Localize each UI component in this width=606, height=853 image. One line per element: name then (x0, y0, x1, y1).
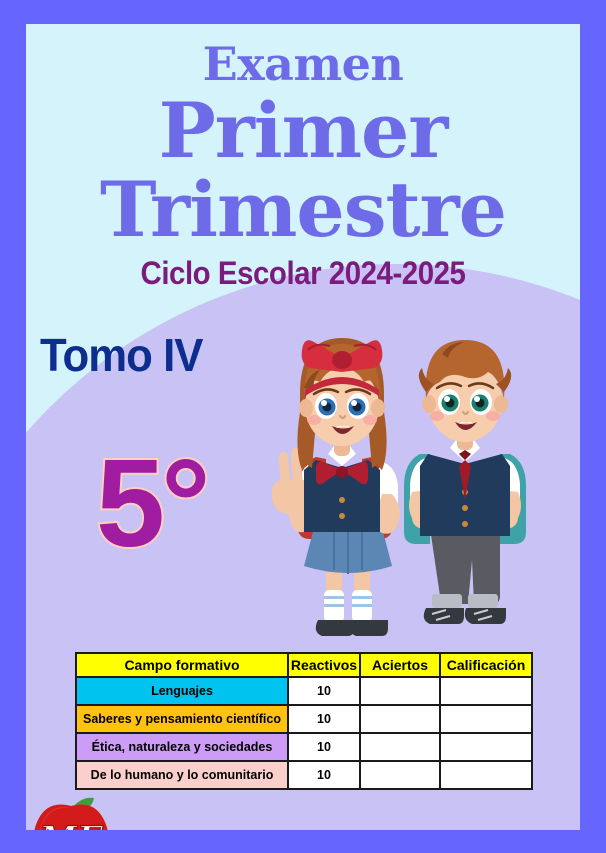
page-title-primer: Primer (26, 92, 580, 170)
table-row: De lo humano y lo comunitario 10 (76, 761, 532, 789)
cell-reactivos: 10 (288, 733, 360, 761)
cell-calificacion[interactable] (440, 677, 532, 705)
cell-campo-etica: Ética, naturaleza y sociedades (76, 733, 288, 761)
cell-calificacion[interactable] (440, 705, 532, 733)
grade-badge: 5° (96, 442, 207, 566)
table-header-row: Campo formativo Reactivos Aciertos Calif… (76, 653, 532, 677)
page-title-trimestre: Trimestre (26, 170, 580, 250)
cell-calificacion[interactable] (440, 761, 532, 789)
cell-reactivos: 10 (288, 677, 360, 705)
exam-cover-page: Examen Primer Trimestre Ciclo Escolar 20… (0, 0, 606, 853)
students-illustration (254, 302, 580, 662)
cell-calificacion[interactable] (440, 733, 532, 761)
cell-aciertos[interactable] (360, 677, 440, 705)
page-title-examen: Examen (26, 38, 580, 90)
cell-aciertos[interactable] (360, 761, 440, 789)
girl-student-figure (272, 338, 400, 636)
score-table: Campo formativo Reactivos Aciertos Calif… (75, 652, 533, 790)
table-row: Lenguajes 10 (76, 677, 532, 705)
cell-reactivos: 10 (288, 761, 360, 789)
column-header-aciertos: Aciertos (360, 653, 440, 677)
column-header-campo-formativo: Campo formativo (76, 653, 288, 677)
cell-campo-saberes: Saberes y pensamiento científico (76, 705, 288, 733)
cell-aciertos[interactable] (360, 733, 440, 761)
column-header-calificacion: Calificación (440, 653, 532, 677)
title-block: Examen Primer Trimestre Ciclo Escolar 20… (26, 24, 580, 292)
table-row: Ética, naturaleza y sociedades 10 (76, 733, 532, 761)
school-year-label: Ciclo Escolar 2024-2025 (48, 254, 558, 292)
me-monogram: ME (38, 819, 104, 830)
column-header-reactivos: Reactivos (288, 653, 360, 677)
cell-aciertos[interactable] (360, 705, 440, 733)
me-apple-logo: ME (28, 792, 114, 830)
boy-student-figure (404, 340, 526, 624)
table-row: Saberes y pensamiento científico 10 (76, 705, 532, 733)
cell-campo-lenguajes: Lenguajes (76, 677, 288, 705)
cell-reactivos: 10 (288, 705, 360, 733)
cell-campo-humano: De lo humano y lo comunitario (76, 761, 288, 789)
cover-inner-canvas: Examen Primer Trimestre Ciclo Escolar 20… (26, 24, 580, 830)
volume-label: Tomo IV (40, 330, 202, 380)
